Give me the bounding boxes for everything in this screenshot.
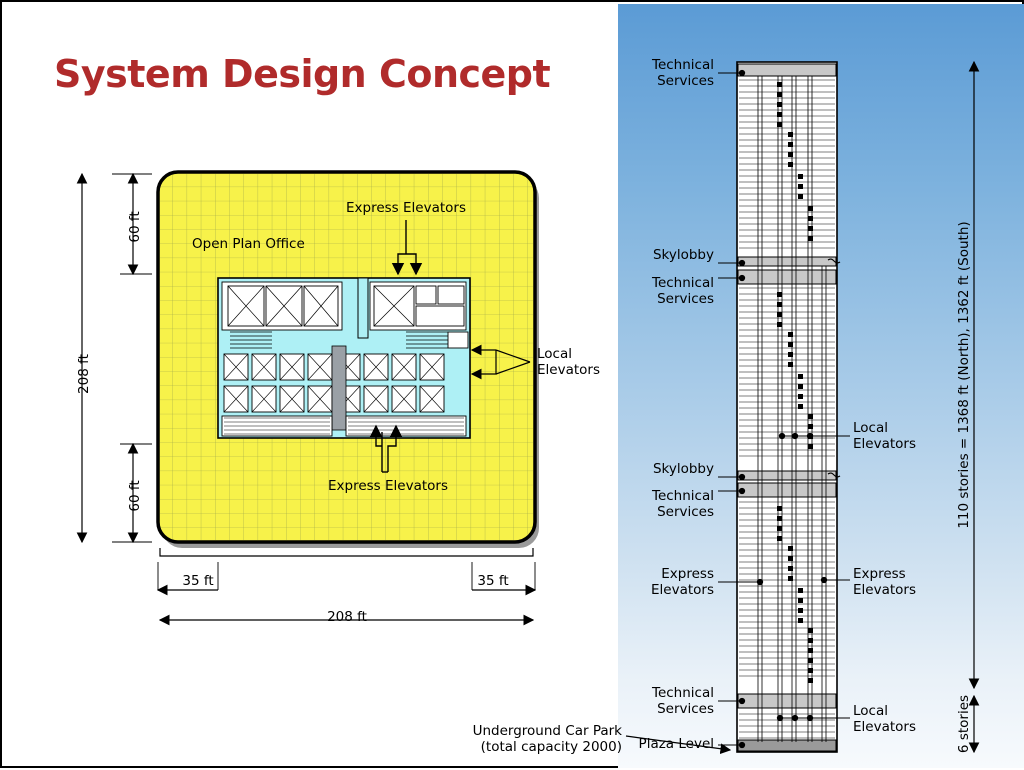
label-local-elevators-lower-right: Local Elevators <box>853 704 963 736</box>
label-skylobby-lower: Skylobby <box>602 462 714 478</box>
label-skylobby-upper: Skylobby <box>602 248 714 264</box>
dim-60ft-top: 60 ft <box>127 211 143 242</box>
label-technical-services-lower: Technical Services <box>602 489 714 521</box>
label-open-plan-office: Open Plan Office <box>192 236 305 252</box>
tower-height-label: 110 stories = 1368 ft (North), 1362 ft (… <box>956 221 972 528</box>
dim-60ft-bottom: 60 ft <box>127 480 143 511</box>
label-express-elevators-right: Express Elevators <box>853 567 963 599</box>
label-technical-services-bottom: Technical Services <box>602 686 714 718</box>
dim-35ft-left: 35 ft <box>172 574 224 590</box>
slide-root: System Design Concept <box>0 0 1024 768</box>
label-express-elevators-top: Express Elevators <box>338 201 474 217</box>
tower-section-group: 110 stories = 1368 ft (North), 1362 ft (… <box>626 62 974 753</box>
dim-35ft-right: 35 ft <box>467 574 519 590</box>
label-local-elevators-upper-right: Local Elevators <box>853 421 963 453</box>
label-underground-car-park: Underground Car Park (total capacity 200… <box>422 724 622 756</box>
floor-plan-group: Open Plan Office <box>76 172 539 620</box>
label-local-elevators-plan: Local Elevators <box>537 347 647 379</box>
label-express-elevators-left: Express Elevators <box>602 567 714 599</box>
label-express-elevators-bottom: Express Elevators <box>320 479 456 495</box>
label-technical-services-top: Technical Services <box>602 58 714 90</box>
label-technical-services-upper: Technical Services <box>602 276 714 308</box>
dim-208ft-vertical: 208 ft <box>76 354 92 394</box>
dim-208ft-horizontal: 208 ft <box>319 610 375 626</box>
diagram-svg: Open Plan Office <box>2 2 1024 770</box>
